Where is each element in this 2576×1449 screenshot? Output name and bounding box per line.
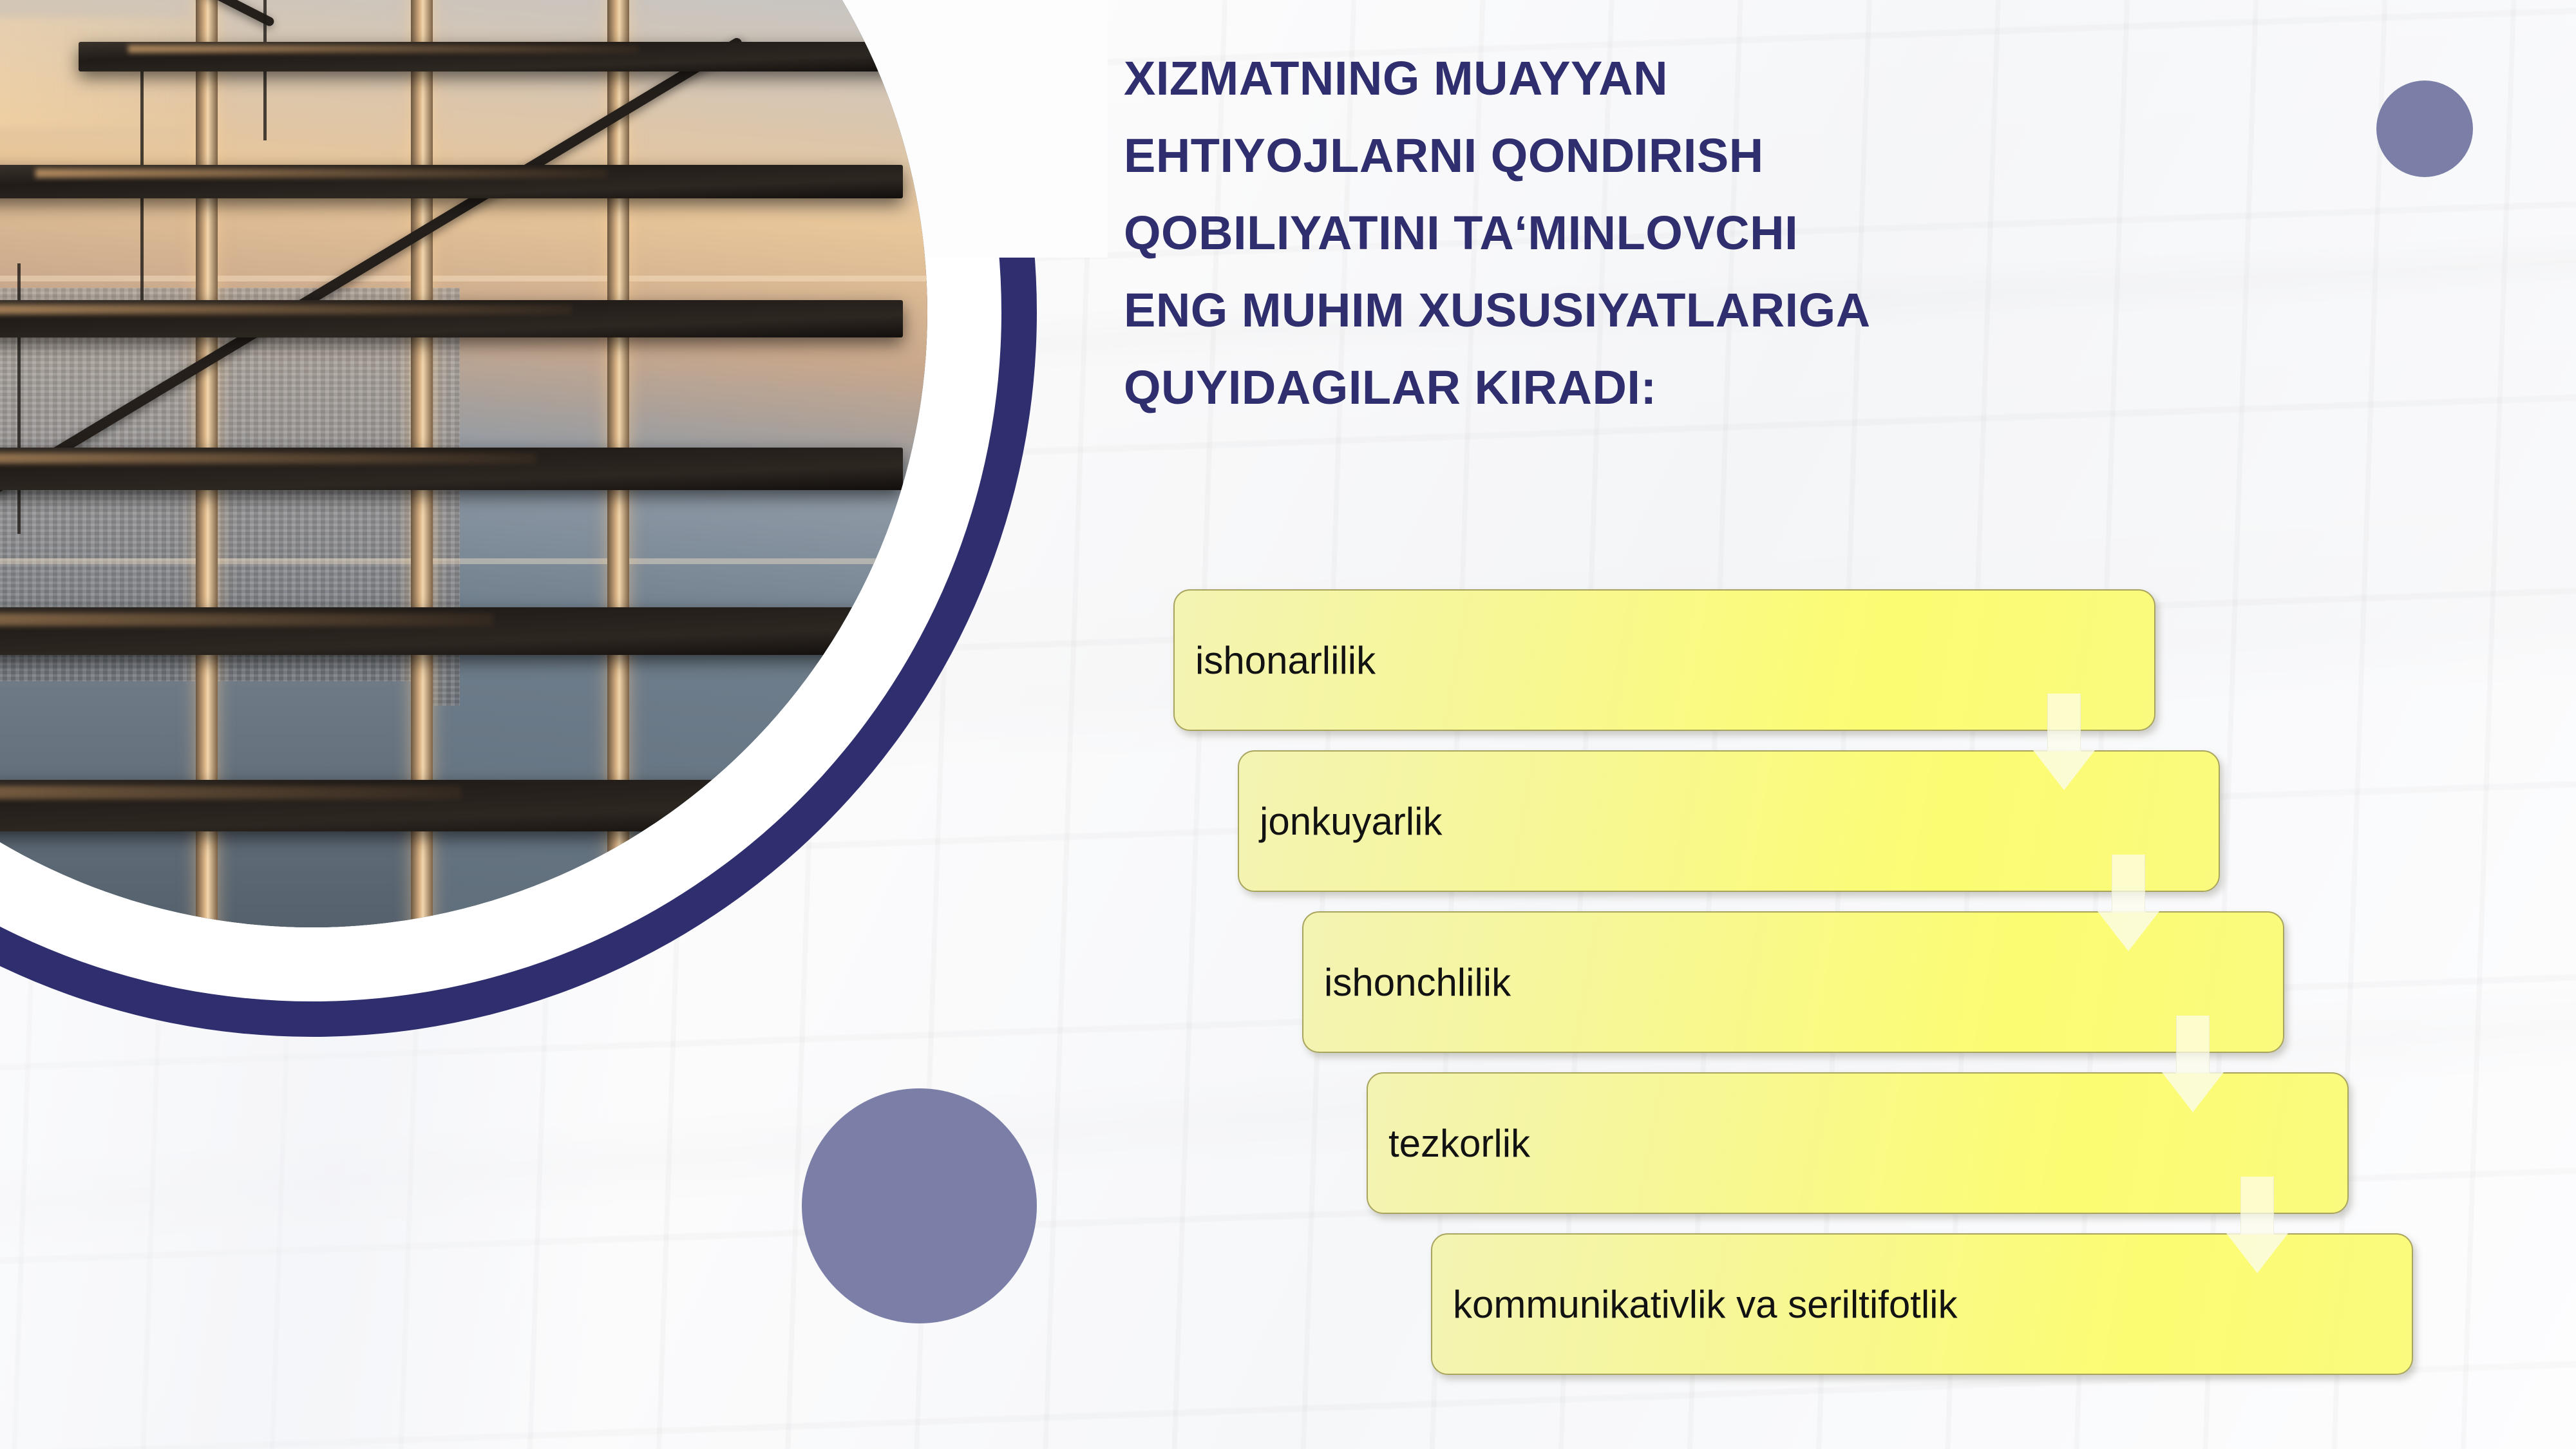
step-box-5[interactable]: kommunikativlik va seriltifotlik	[1431, 1233, 2413, 1375]
step-label-3: ishonchlilik	[1324, 960, 1511, 1005]
step-box-3[interactable]: ishonchlilik	[1302, 911, 2284, 1053]
step-box-2[interactable]: jonkuyarlik	[1238, 750, 2220, 892]
step-label-4: tezkorlik	[1388, 1121, 1530, 1166]
title-line-5: QUYIDAGILAR KIRADI:	[1124, 349, 2476, 426]
step-label-5: kommunikativlik va seriltifotlik	[1453, 1282, 1958, 1327]
title-line-4: ENG MUHIM XUSUSIYATLARIGA	[1124, 272, 2476, 349]
page-title: XIZMATNING MUAYYAN EHTIYOJLARNI QONDIRIS…	[1124, 40, 2476, 426]
step-box-1[interactable]: ishonarlilik	[1173, 589, 2155, 731]
step-label-2: jonkuyarlik	[1260, 799, 1442, 844]
title-line-3: QOBILIYATINI TA‘MINLOVCHI	[1124, 194, 2476, 272]
title-line-1: XIZMATNING MUAYYAN	[1124, 40, 2476, 117]
title-line-2: EHTIYOJLARNI QONDIRISH	[1124, 117, 2476, 194]
step-label-1: ishonarlilik	[1195, 638, 1376, 683]
step-box-4[interactable]: tezkorlik	[1367, 1072, 2349, 1214]
